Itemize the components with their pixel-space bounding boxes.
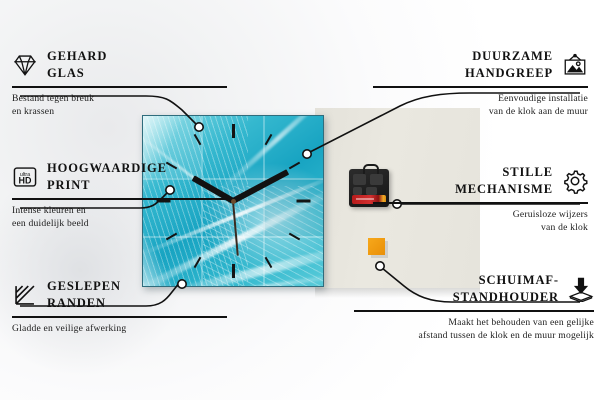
feature-header: STILLE MECHANISME [373, 164, 588, 197]
divider [354, 310, 594, 312]
feature-header: GEHARD GLAS [12, 48, 227, 81]
svg-text:HD: HD [19, 175, 32, 185]
beveled-edges-icon [12, 282, 38, 308]
feature-description: Gladde en veilige afwerking [12, 323, 227, 336]
feature-stille-mechanisme: STILLE MECHANISME Geruisloze wijzers van… [373, 164, 588, 234]
gear-icon [562, 168, 588, 194]
divider [12, 86, 227, 88]
divider [373, 86, 588, 88]
feature-title: GESLEPEN RANDEN [47, 278, 121, 311]
feature-geslepen-randen: GESLEPEN RANDEN Gladde en veilige afwerk… [12, 278, 227, 336]
feature-hoogwaardige-print: ultra HD HOOGWAARDIGE PRINT Intense kleu… [12, 160, 227, 230]
feature-header: SCHUIMAF- STANDHOUDER [354, 272, 594, 305]
feature-description: Bestand tegen breuk en krassen [12, 93, 227, 119]
anchor-handgreep [303, 150, 311, 158]
anchor-glas [195, 123, 203, 131]
feature-header: GESLEPEN RANDEN [12, 278, 227, 311]
feature-title: HOOGWAARDIGE PRINT [47, 160, 167, 193]
feature-description: Intense kleuren en een duidelijk beeld [12, 205, 227, 231]
feature-duurzame-handgreep: DUURZAME HANDGREEP Eenvoudige installati… [373, 48, 588, 118]
diamond-icon [12, 52, 38, 78]
infographic-canvas: GEHARD GLAS Bestand tegen breuk en krass… [0, 0, 600, 400]
feature-header: DUURZAME HANDGREEP [373, 48, 588, 81]
anchor-foam [376, 262, 384, 270]
feature-header: ultra HD HOOGWAARDIGE PRINT [12, 160, 227, 193]
feature-schuimafstandhouder: SCHUIMAF- STANDHOUDER Maakt het behouden… [354, 272, 594, 342]
ultra-hd-icon: ultra HD [12, 164, 38, 190]
feature-title: SCHUIMAF- STANDHOUDER [453, 272, 559, 305]
feature-description: Maakt het behouden van een gelijke afsta… [354, 317, 594, 343]
divider [12, 316, 227, 318]
foam-spacer-icon [568, 276, 594, 302]
feature-title: GEHARD GLAS [47, 48, 107, 81]
feature-title: DUURZAME HANDGREEP [465, 48, 553, 81]
picture-hanger-icon [562, 52, 588, 78]
feature-gehard-glas: GEHARD GLAS Bestand tegen breuk en krass… [12, 48, 227, 118]
divider [373, 202, 588, 204]
feature-description: Eenvoudige installatie van de klok aan d… [373, 93, 588, 119]
feature-title: STILLE MECHANISME [455, 164, 553, 197]
divider [12, 198, 227, 200]
feature-description: Geruisloze wijzers van de klok [373, 209, 588, 235]
